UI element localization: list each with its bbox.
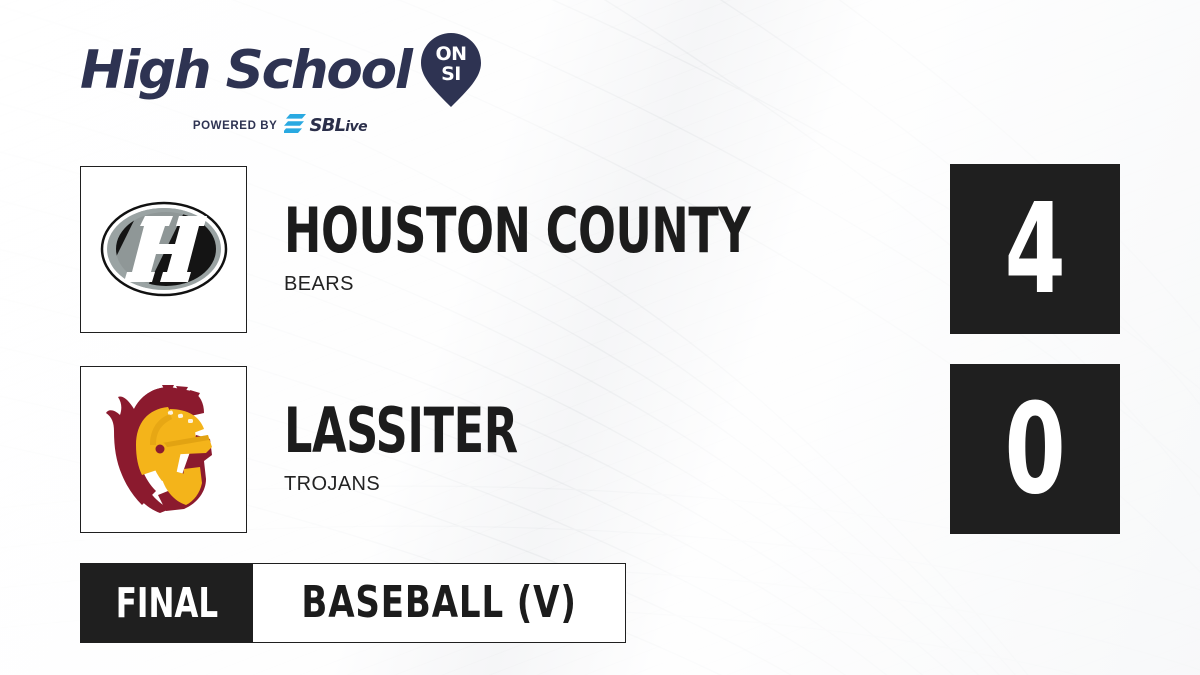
team-text-block: HOUSTON COUNTY BEARS bbox=[284, 202, 950, 295]
team-name: LASSITER bbox=[284, 402, 817, 459]
team-score: 0 bbox=[1004, 387, 1065, 512]
sblive-wordmark: SBLive bbox=[309, 117, 367, 135]
team-score-box: 4 bbox=[950, 164, 1120, 334]
sblive-word-main: SBL bbox=[309, 115, 345, 136]
team-mascot: TROJANS bbox=[284, 473, 950, 496]
scoreboard-graphic: High School ON SI POWERED BY bbox=[0, 0, 1200, 675]
team-score-box: 0 bbox=[950, 364, 1120, 534]
team-score: 4 bbox=[1004, 187, 1065, 312]
svg-text:SI: SI bbox=[441, 63, 461, 85]
team-logo-card bbox=[80, 166, 247, 333]
sblive-s-mark-icon bbox=[284, 114, 306, 138]
powered-by-row: POWERED BY SBLive bbox=[80, 114, 480, 138]
status-badge-label: FINAL bbox=[116, 583, 218, 624]
powered-by-label: POWERED BY bbox=[193, 120, 278, 132]
sport-label-panel: BASEBALL (V) bbox=[253, 564, 625, 642]
team-name: HOUSTON COUNTY bbox=[284, 202, 817, 259]
lassiter-trojans-helmet-icon bbox=[100, 383, 228, 515]
on-si-pin-icon: ON SI bbox=[421, 33, 481, 107]
sblive-logo: SBLive bbox=[284, 114, 367, 138]
game-status-bar: FINAL BASEBALL (V) bbox=[80, 563, 626, 643]
sblive-word-suffix: ive bbox=[345, 119, 367, 135]
team-logo-card bbox=[80, 366, 247, 533]
team-row: HOUSTON COUNTY BEARS 4 bbox=[80, 164, 1120, 334]
svg-text:ON: ON bbox=[435, 43, 466, 65]
sport-label: BASEBALL (V) bbox=[301, 581, 576, 625]
brand-logo-row: High School ON SI bbox=[80, 33, 481, 107]
team-mascot: BEARS bbox=[284, 273, 950, 296]
brand-wordmark: High School bbox=[80, 44, 411, 97]
houston-county-bears-oval-h-icon bbox=[99, 194, 229, 304]
team-text-block: LASSITER TROJANS bbox=[284, 402, 950, 495]
brand-logo: High School ON SI POWERED BY bbox=[80, 33, 481, 138]
status-badge: FINAL bbox=[81, 564, 253, 642]
team-row: LASSITER TROJANS 0 bbox=[80, 364, 1120, 534]
